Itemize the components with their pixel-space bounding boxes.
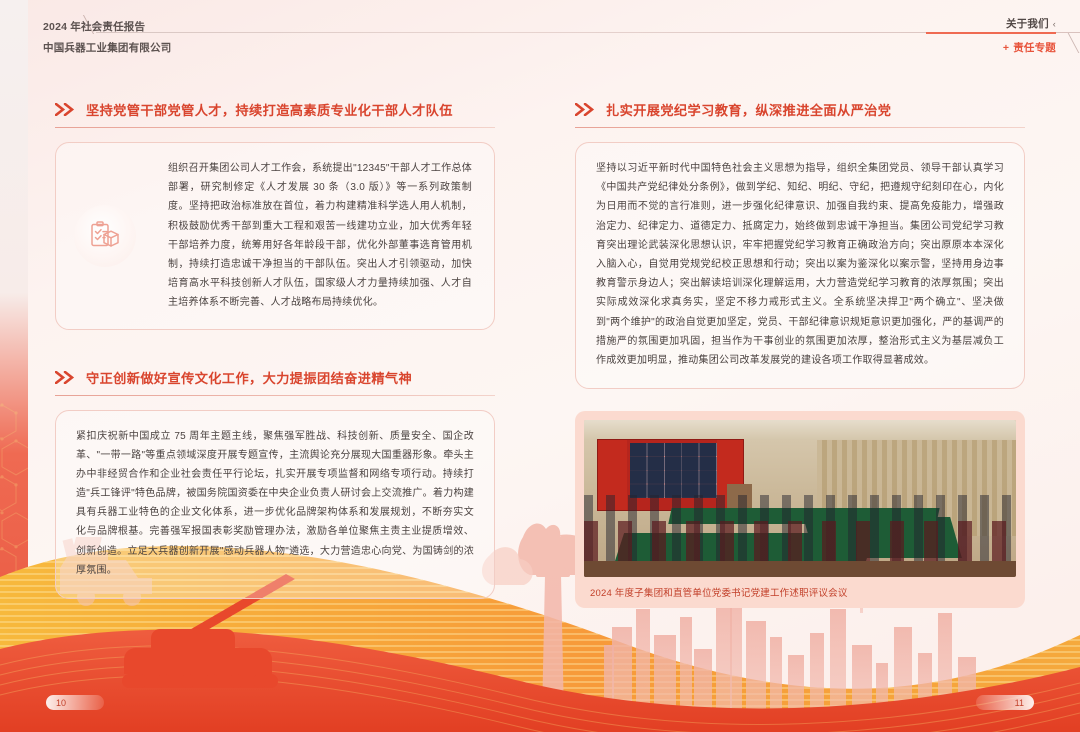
photo-card: 2024 年度子集团和直管单位党委书记党建工作述职评议会议 bbox=[575, 411, 1025, 608]
company-name: 中国兵器工业集团有限公司 bbox=[43, 40, 171, 55]
photo-caption: 2024 年度子集团和直管单位党委书记党建工作述职评议会议 bbox=[584, 577, 1016, 608]
page-number-right-value: 11 bbox=[1015, 698, 1024, 708]
section-divider bbox=[55, 395, 495, 396]
double-chevron-right-icon bbox=[55, 371, 77, 384]
clipboard-cube-icon bbox=[74, 205, 136, 267]
nav-responsibility-topic[interactable]: +责任专题 bbox=[1003, 40, 1056, 55]
nav-about-us-label: 关于我们 bbox=[1006, 18, 1049, 30]
card-party-discipline: 坚持以习近平新时代中国特色社会主义思想为指导，组织全集团党员、领导干部认真学习《… bbox=[575, 142, 1025, 389]
card-body-text: 紧扣庆祝新中国成立 75 周年主题主线，聚焦强军胜战、科技创新、质量安全、国企改… bbox=[56, 411, 494, 599]
section-divider bbox=[575, 127, 1025, 128]
header-accent-bar bbox=[926, 32, 1056, 34]
section-header: 坚持党管干部党管人才，持续打造高素质专业化干部人才队伍 bbox=[55, 68, 495, 119]
page-canvas: 2024 年社会责任报告 中国兵器工业集团有限公司 关于我们‹ +责任专题 bbox=[0, 0, 1080, 732]
conference-photo bbox=[584, 420, 1016, 577]
section-title: 坚持党管干部党管人才，持续打造高素质专业化干部人才队伍 bbox=[86, 100, 453, 119]
card-culture-propaganda: 紧扣庆祝新中国成立 75 周年主题主线，聚焦强军胜战、科技创新、质量安全、国企改… bbox=[55, 410, 495, 600]
double-chevron-right-icon bbox=[55, 103, 77, 116]
left-column: 坚持党管干部党管人才，持续打造高素质专业化干部人才队伍 bbox=[0, 68, 540, 568]
nav-about-us[interactable]: 关于我们‹ bbox=[1006, 16, 1056, 31]
page-header: 2024 年社会责任报告 中国兵器工业集团有限公司 关于我们‹ +责任专题 bbox=[0, 0, 1080, 62]
card-talent-management: 组织召开集团公司人才工作会，系统提出"12345"干部人才工作总体部署，研究制修… bbox=[55, 142, 495, 330]
section-talent-management: 坚持党管干部党管人才，持续打造高素质专业化干部人才队伍 bbox=[55, 68, 495, 330]
content-area: 坚持党管干部党管人才，持续打造高素质专业化干部人才队伍 bbox=[0, 68, 1080, 568]
section-header: 扎实开展党纪学习教育，纵深推进全面从严治党 bbox=[575, 68, 1025, 119]
section-header: 守正创新做好宣传文化工作，大力提振团结奋进精气神 bbox=[55, 336, 495, 387]
report-title: 2024 年社会责任报告 bbox=[43, 19, 145, 34]
section-party-discipline: 扎实开展党纪学习教育，纵深推进全面从严治党 坚持以习近平新时代中国特色社会主义思… bbox=[575, 68, 1025, 389]
right-column: 扎实开展党纪学习教育，纵深推进全面从严治党 坚持以习近平新时代中国特色社会主义思… bbox=[540, 68, 1080, 568]
section-title: 扎实开展党纪学习教育，纵深推进全面从严治党 bbox=[606, 100, 891, 119]
section-title: 守正创新做好宣传文化工作，大力提振团结奋进精气神 bbox=[86, 368, 412, 387]
plus-icon: + bbox=[1003, 42, 1009, 54]
card-body-text: 坚持以习近平新时代中国特色社会主义思想为指导，组织全集团党员、领导干部认真学习《… bbox=[576, 143, 1024, 388]
page-number-right: 11 bbox=[976, 695, 1034, 710]
section-culture-propaganda: 守正创新做好宣传文化工作，大力提振团结奋进精气神 紧扣庆祝新中国成立 75 周年… bbox=[55, 336, 495, 600]
page-number-left-value: 10 bbox=[56, 698, 66, 708]
chevron-left-icon: ‹ bbox=[1053, 19, 1056, 29]
double-chevron-right-icon bbox=[575, 103, 597, 116]
page-number-left: 10 bbox=[46, 695, 104, 710]
nav-topic-label: 责任专题 bbox=[1013, 42, 1056, 54]
section-divider bbox=[55, 127, 495, 128]
